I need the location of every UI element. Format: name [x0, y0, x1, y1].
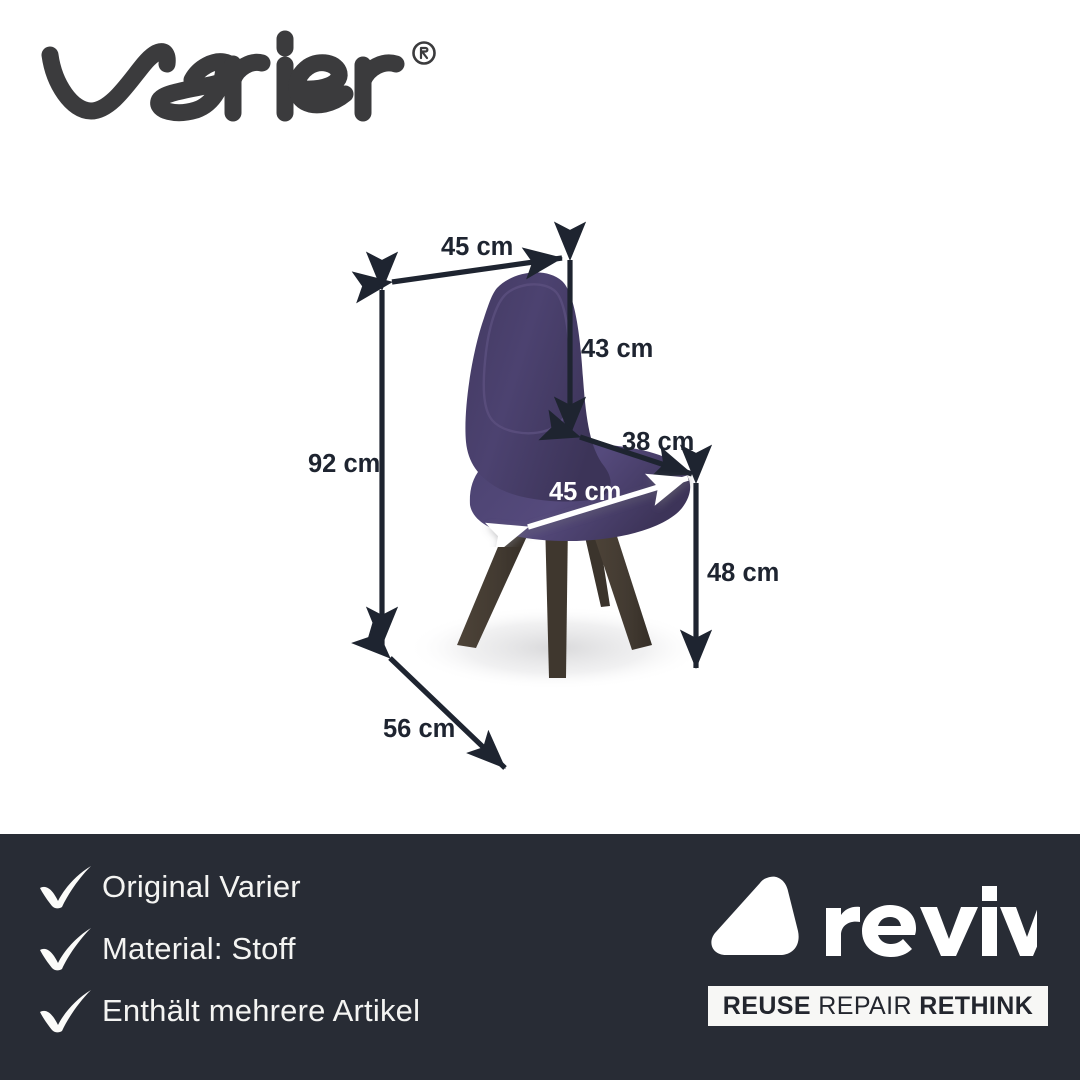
feature-label: Original Varier [102, 869, 301, 905]
registered-trademark-icon [414, 43, 435, 64]
dimension-label-seat-depth: 45 cm [549, 478, 621, 506]
checkmark-icon [30, 926, 102, 972]
info-banner: Original Varier Material: Stoff Enthält … [0, 834, 1080, 1080]
feature-item: Original Varier [30, 856, 630, 918]
feature-label: Enthält mehrere Artikel [102, 993, 420, 1029]
dimension-label-backrest-width: 45 cm [441, 233, 513, 261]
dimension-label-backrest-height: 43 cm [581, 335, 653, 363]
checkmark-icon [30, 864, 102, 910]
revive-wordmark [822, 882, 1037, 960]
feature-item: Material: Stoff [30, 918, 630, 980]
dimension-label-total-height: 92 cm [308, 450, 380, 478]
feature-item: Enthält mehrere Artikel [30, 980, 630, 1042]
product-image-card: 45 cm 43 cm 38 cm 92 cm 48 cm 56 cm 45 c… [0, 0, 1080, 1080]
dimension-label-seat-height: 48 cm [707, 559, 779, 587]
revive-tagline: REUSE REPAIR RETHINK [708, 986, 1048, 1026]
dimension-label-base-depth: 56 cm [383, 715, 455, 743]
feature-label: Material: Stoff [102, 931, 296, 967]
chair-backrest [465, 272, 610, 501]
feature-list: Original Varier Material: Stoff Enthält … [30, 856, 630, 1042]
chair-illustration: 45 cm 43 cm 38 cm 92 cm 48 cm 56 cm 45 c… [0, 150, 1080, 834]
product-photo-with-dimensions: 45 cm 43 cm 38 cm 92 cm 48 cm 56 cm 45 c… [0, 150, 1080, 834]
tagline-word-reuse: REUSE [723, 992, 811, 1020]
dimension-label-seat-width: 38 cm [622, 428, 694, 456]
varier-wordmark [28, 18, 448, 138]
checkmark-icon [30, 988, 102, 1034]
varier-logo [28, 18, 448, 138]
revive-logo: REUSE REPAIR RETHINK [708, 862, 1048, 1052]
tagline-word-rethink: RETHINK [919, 992, 1033, 1020]
revive-mark-icon [708, 869, 812, 973]
leg-center-stem [545, 520, 568, 678]
tagline-word-repair: REPAIR [818, 992, 912, 1020]
